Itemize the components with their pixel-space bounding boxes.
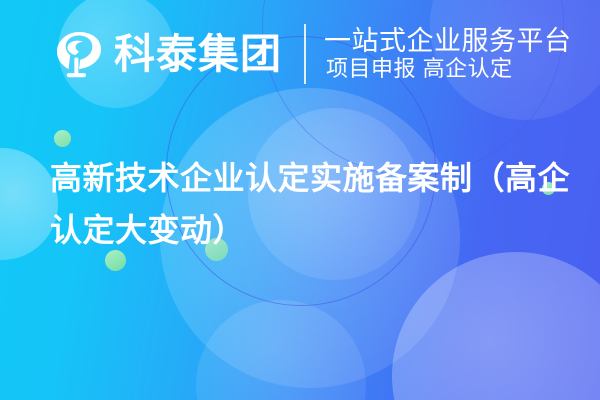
decorative-circle-bottom-center: [196, 300, 366, 400]
decorative-circle-bottom-right: [392, 252, 600, 400]
ketai-circle-logo-icon: [50, 25, 108, 83]
tagline-main: 一站式企业服务平台: [324, 27, 572, 56]
banner-title: 高新技术企业认定实施备案制（高企认定大变动）: [50, 152, 570, 256]
promo-banner: 科泰集团 一站式企业服务平台 项目申报 高企认定 高新技术企业认定实施备案制（高…: [0, 0, 600, 400]
brand-name: 科泰集团: [114, 34, 282, 75]
banner-header: 科泰集团 一站式企业服务平台 项目申报 高企认定: [50, 24, 572, 84]
header-divider: [304, 24, 306, 84]
tagline-block: 一站式企业服务平台 项目申报 高企认定: [324, 27, 572, 82]
decorative-dot-green-upper-left: [54, 130, 71, 147]
tagline-sub: 项目申报 高企认定: [324, 57, 572, 81]
